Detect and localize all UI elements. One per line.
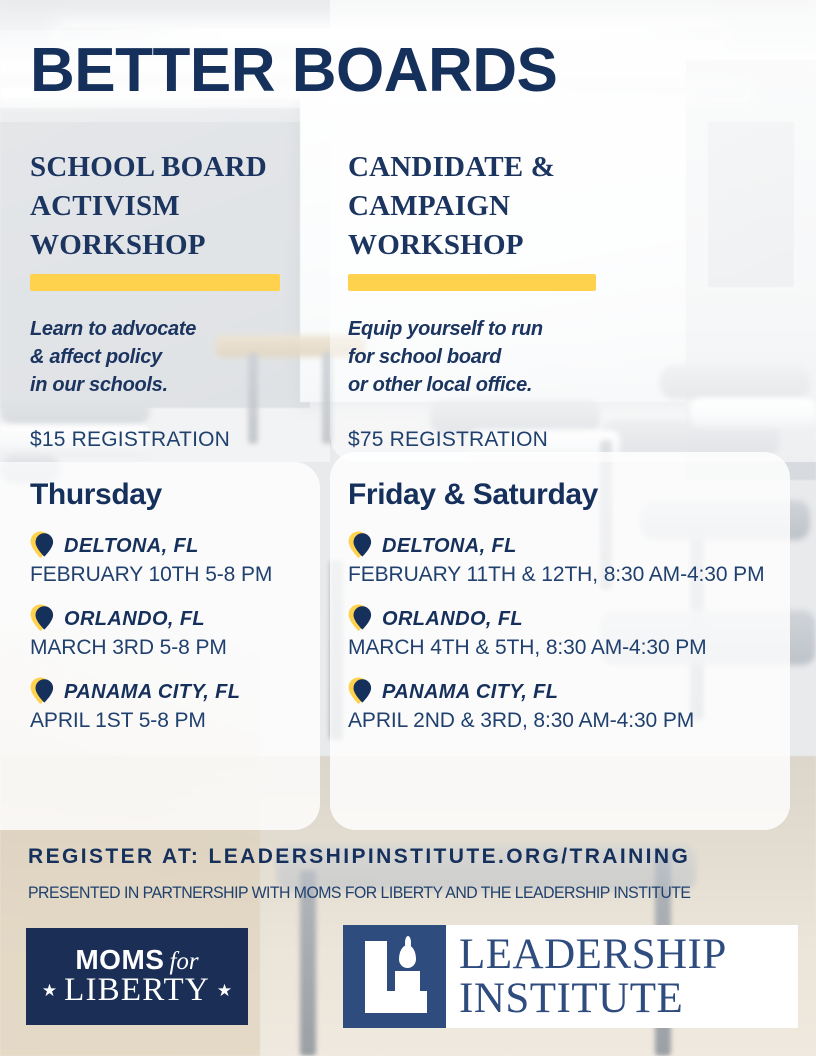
gold-underline-bar [348, 274, 596, 291]
workshop-column-candidate-campaign: CANDIDATE & CAMPAIGN WORKSHOP Equip your… [348, 148, 648, 452]
event-date: MARCH 3RD 5-8 PM [30, 636, 330, 660]
li-candle-body [395, 971, 420, 993]
event-location-row: ORLANDO, FL [30, 603, 330, 635]
event-location-row: DELTONA, FL [348, 530, 798, 562]
gold-underline-bar [30, 274, 280, 291]
event-item: PANAMA CITY, FL APRIL 2ND & 3RD, 8:30 AM… [348, 676, 798, 733]
map-pin-icon [30, 530, 55, 562]
event-location-row: PANAMA CITY, FL [30, 676, 330, 708]
tagline-line: or other local office. [348, 371, 648, 399]
event-location: ORLANDO, FL [382, 608, 523, 631]
event-date: APRIL 1ST 5-8 PM [30, 709, 330, 733]
day-header: Thursday [30, 478, 330, 512]
event-location-row: PANAMA CITY, FL [348, 676, 798, 708]
registration-price: $15 REGISTRATION [30, 428, 320, 452]
event-item: ORLANDO, FL MARCH 3RD 5-8 PM [30, 603, 330, 660]
page-title: BETTER BOARDS [30, 40, 557, 102]
star-icon: ★ [217, 982, 232, 999]
event-item: DELTONA, FL FEBRUARY 11TH & 12TH, 8:30 A… [348, 530, 798, 587]
event-item: ORLANDO, FL MARCH 4TH & 5TH, 8:30 AM-4:3… [348, 603, 798, 660]
schedule-friday-saturday: Friday & Saturday DELTONA, FL FEBRUARY 1… [348, 478, 798, 749]
event-date: MARCH 4TH & 5TH, 8:30 AM-4:30 PM [348, 636, 798, 660]
register-url-line[interactable]: REGISTER AT: LEADERSHIPINSTITUTE.ORG/TRA… [28, 845, 690, 869]
event-location: DELTONA, FL [382, 535, 517, 558]
event-item: DELTONA, FL FEBRUARY 10TH 5-8 PM [30, 530, 330, 587]
tagline-line: Equip yourself to run [348, 315, 648, 343]
tagline-line: in our schools. [30, 371, 320, 399]
workshop-title: SCHOOL BOARD ACTIVISM WORKSHOP [30, 148, 320, 265]
moms-for-liberty-logo: MOMS for ★ LIBERTY ★ [26, 928, 248, 1025]
li-wordmark: LEADERSHIP INSTITUTE [446, 925, 798, 1028]
li-word-institute: INSTITUTE [459, 977, 798, 1021]
tagline-line: Learn to advocate [30, 315, 320, 343]
workshop-title-line: ACTIVISM [30, 187, 320, 226]
star-icon: ★ [42, 982, 57, 999]
workshop-title: CANDIDATE & CAMPAIGN WORKSHOP [348, 148, 648, 265]
day-header: Friday & Saturday [348, 478, 798, 512]
workshop-title-line: CAMPAIGN [348, 187, 648, 226]
event-location: ORLANDO, FL [64, 608, 205, 631]
li-word-leadership: LEADERSHIP [459, 933, 798, 977]
event-date: FEBRUARY 11TH & 12TH, 8:30 AM-4:30 PM [348, 563, 798, 587]
leadership-institute-logo: LEADERSHIP INSTITUTE [343, 925, 798, 1028]
li-l-horizontal [365, 991, 427, 1013]
event-location-row: DELTONA, FL [30, 530, 330, 562]
event-location: PANAMA CITY, FL [382, 681, 558, 704]
workshop-column-school-board: SCHOOL BOARD ACTIVISM WORKSHOP Learn to … [30, 148, 320, 452]
workshop-tagline: Equip yourself to run for school board o… [348, 315, 648, 400]
li-l-vertical [365, 941, 387, 997]
map-pin-icon [348, 603, 373, 635]
tagline-line: & affect policy [30, 343, 320, 371]
mfl-word-liberty: LIBERTY [64, 972, 210, 1009]
event-date: FEBRUARY 10TH 5-8 PM [30, 563, 330, 587]
flyer-poster: BETTER BOARDS SCHOOL BOARD ACTIVISM WORK… [0, 0, 816, 1056]
mfl-logo-row-bottom: ★ LIBERTY ★ [42, 972, 232, 1009]
map-pin-icon [348, 530, 373, 562]
li-flame [399, 945, 416, 968]
event-date: APRIL 2ND & 3RD, 8:30 AM-4:30 PM [348, 709, 798, 733]
li-candle-mark-icon [343, 925, 446, 1028]
map-pin-icon [30, 676, 55, 708]
workshop-title-line: CANDIDATE & [348, 148, 648, 187]
event-location-row: ORLANDO, FL [348, 603, 798, 635]
partnership-line: PRESENTED IN PARTNERSHIP WITH MOMS FOR L… [28, 884, 690, 903]
workshop-tagline: Learn to advocate & affect policy in our… [30, 315, 320, 400]
schedule-thursday: Thursday DELTONA, FL FEBRUARY 10TH 5-8 P… [30, 478, 330, 749]
map-pin-icon [30, 603, 55, 635]
event-location: PANAMA CITY, FL [64, 681, 240, 704]
registration-price: $75 REGISTRATION [348, 428, 648, 452]
workshop-title-line: WORKSHOP [348, 226, 648, 265]
event-item: PANAMA CITY, FL APRIL 1ST 5-8 PM [30, 676, 330, 733]
workshop-title-line: WORKSHOP [30, 226, 320, 265]
event-location: DELTONA, FL [64, 535, 199, 558]
workshop-title-line: SCHOOL BOARD [30, 148, 320, 187]
tagline-line: for school board [348, 343, 648, 371]
map-pin-icon [348, 676, 373, 708]
